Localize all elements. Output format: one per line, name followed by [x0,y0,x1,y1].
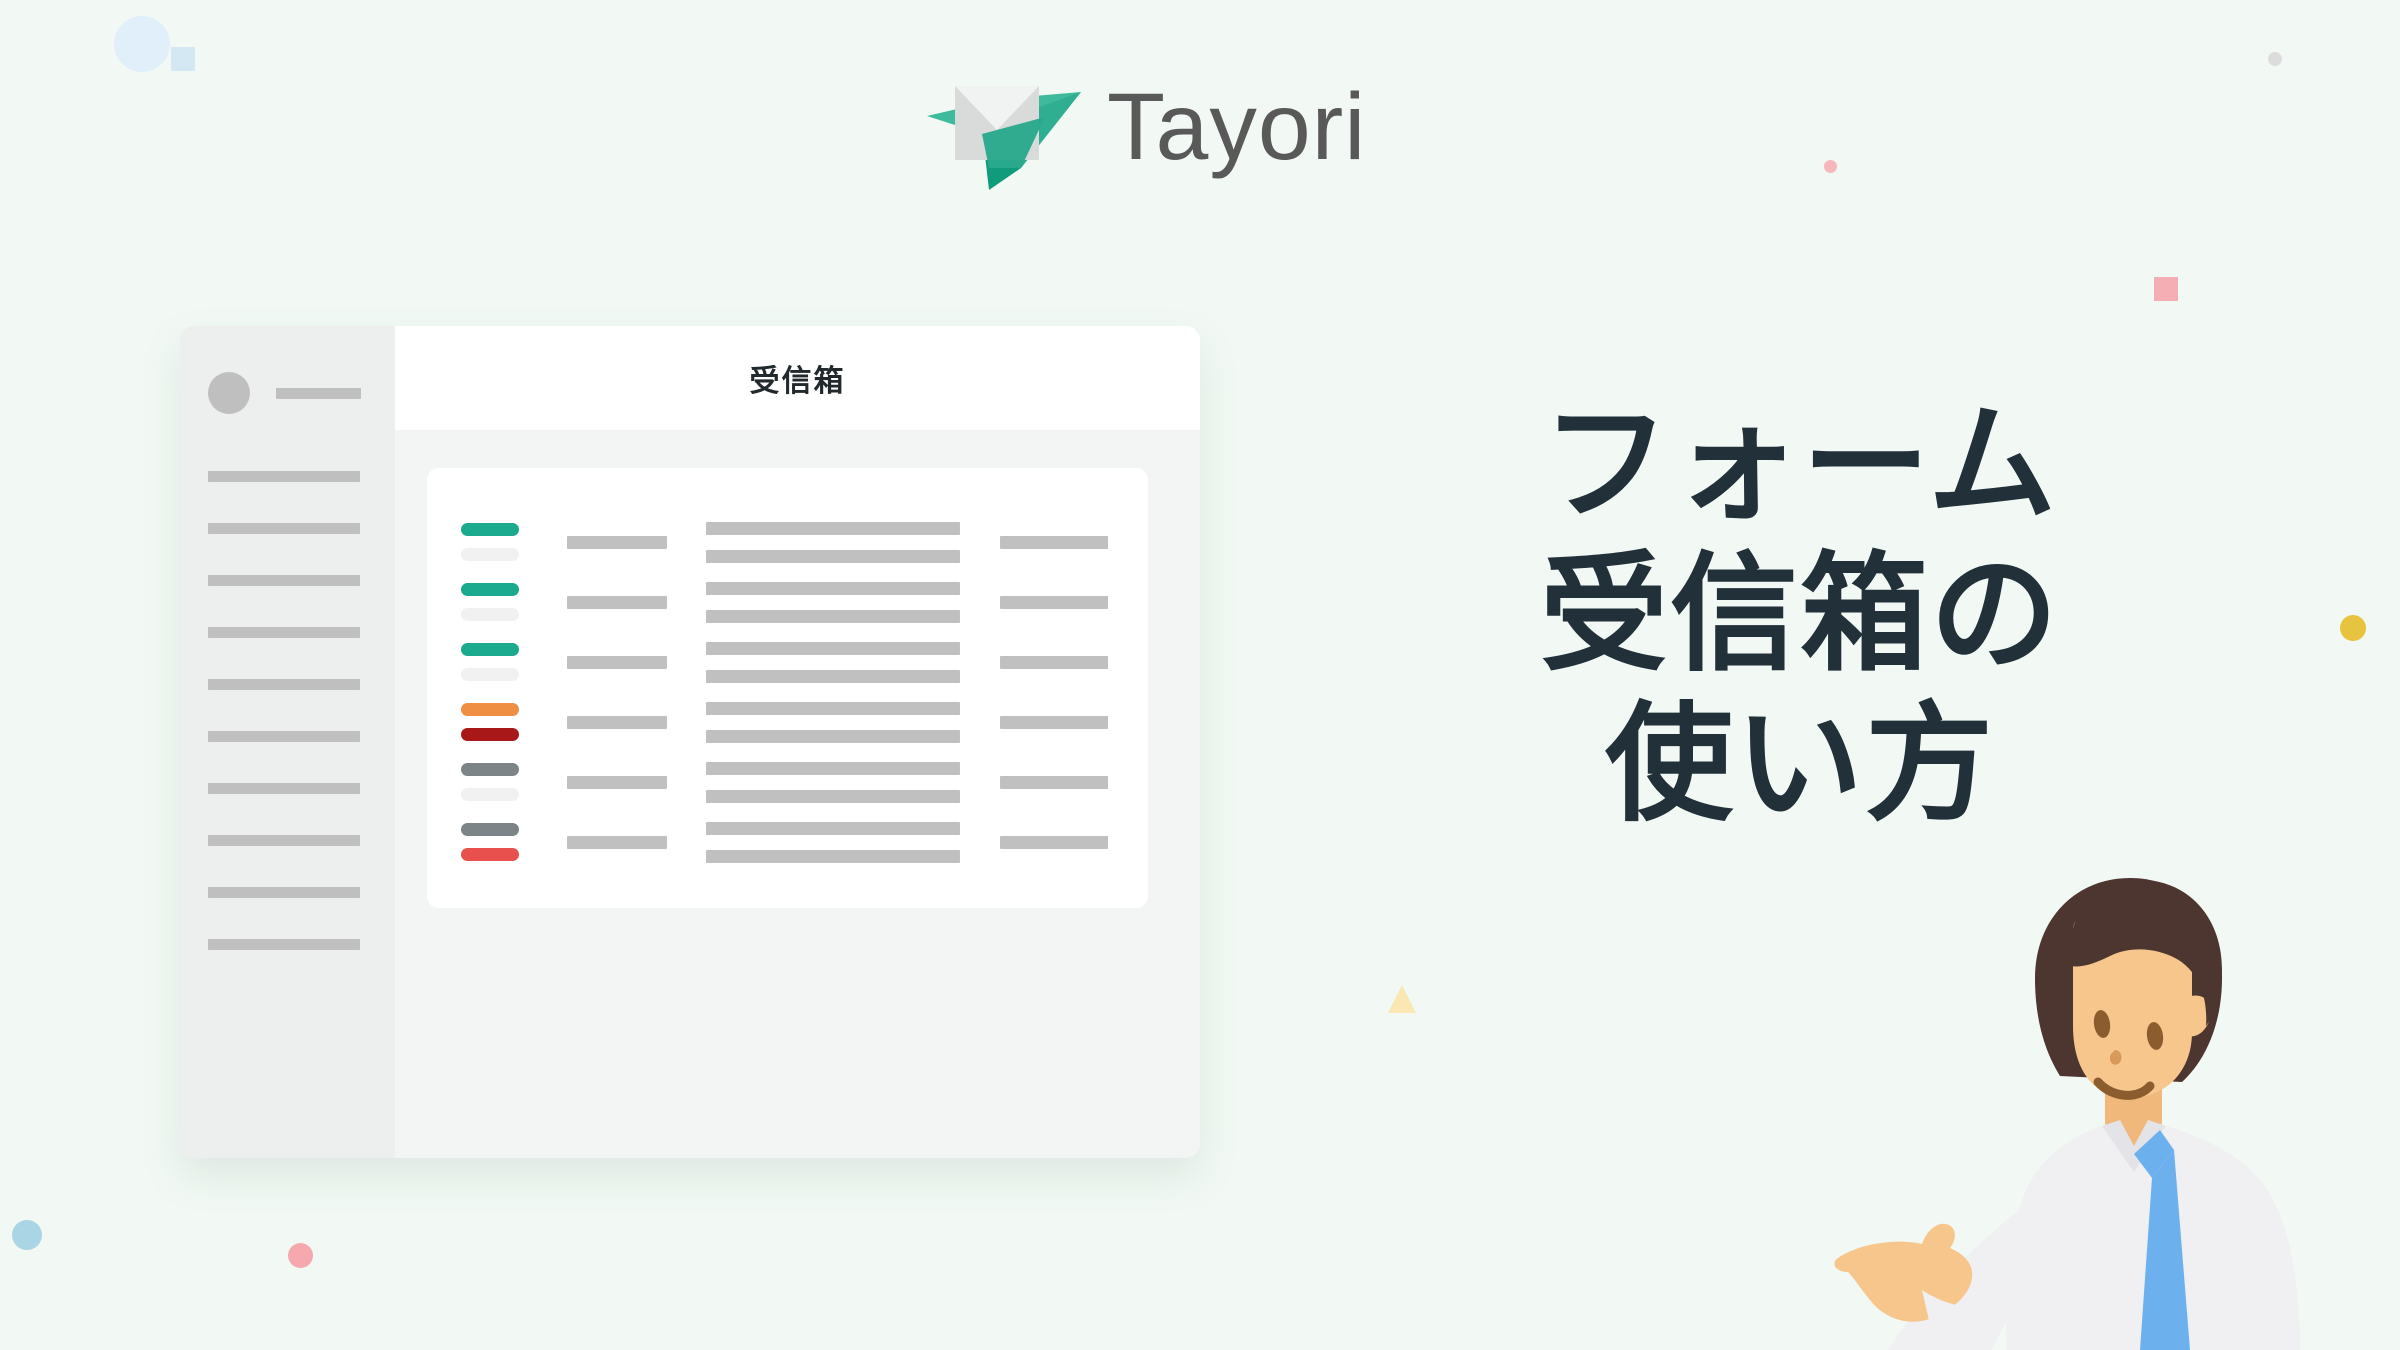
inbox-row[interactable] [427,692,1148,752]
sidebar-nav-item-7[interactable] [208,783,360,794]
sidebar-nav-list [208,471,360,991]
headline: フォーム受信箱の使い方 [1460,390,2140,839]
deco-circle-blue-bottom-left [12,1220,42,1250]
row-date-placeholder [1000,656,1110,669]
app-window-mockup: 受信箱 [180,326,1200,1158]
status-badge[interactable] [461,848,519,861]
envelope-paperplane-icon [925,64,1085,192]
headline-line-1: フォーム [1460,390,2140,540]
row-subject-placeholder [706,822,960,863]
inbox-list-card [427,468,1148,908]
sidebar-user-block[interactable] [208,372,361,414]
sidebar-nav-item-4[interactable] [208,627,360,638]
sidebar-nav-item-9[interactable] [208,887,360,898]
row-subject-placeholder [706,762,960,803]
row-sender-placeholder [567,596,672,609]
headline-line-2: 受信箱の [1460,540,2140,690]
sidebar-nav-item-1[interactable] [208,471,360,482]
status-badge[interactable] [461,823,519,836]
row-tag-group [461,763,553,801]
sidebar-nav-item-5[interactable] [208,679,360,690]
row-sender-placeholder [567,716,672,729]
deco-square-blue-top-left [171,47,195,71]
inbox-row[interactable] [427,512,1148,572]
row-tag-group [461,823,553,861]
user-avatar-icon [208,372,250,414]
row-date-placeholder [1000,776,1110,789]
app-main-area: 受信箱 [395,326,1200,1158]
deco-dot-pink-upper-right [1824,160,1837,173]
inbox-row[interactable] [427,572,1148,632]
deco-circle-blue-top-left [114,16,170,72]
status-badge[interactable] [461,643,519,656]
sidebar-nav-item-3[interactable] [208,575,360,586]
app-header-bar: 受信箱 [395,326,1200,430]
status-badge[interactable] [461,788,519,801]
row-subject-placeholder [706,642,960,683]
row-subject-placeholder [706,702,960,743]
deco-circle-yellow-right [2340,615,2366,641]
row-subject-placeholder [706,582,960,623]
sidebar-nav-item-2[interactable] [208,523,360,534]
deco-circle-pink-bottom [288,1243,313,1268]
row-tag-group [461,523,553,561]
brand-name: Tayori [1107,80,1366,175]
deco-triangle-yellow-mid [1388,985,1416,1013]
businessman-presenting-illustration [1830,820,2400,1350]
inbox-row[interactable] [427,752,1148,812]
status-badge[interactable] [461,728,519,741]
row-tag-group [461,703,553,741]
status-badge[interactable] [461,523,519,536]
row-sender-placeholder [567,656,672,669]
row-sender-placeholder [567,776,672,789]
status-badge[interactable] [461,583,519,596]
status-badge[interactable] [461,668,519,681]
status-badge[interactable] [461,763,519,776]
row-date-placeholder [1000,536,1110,549]
page-title: 受信箱 [750,356,846,400]
inbox-row[interactable] [427,812,1148,872]
app-sidebar [180,326,395,1158]
sidebar-nav-item-6[interactable] [208,731,360,742]
row-tag-group [461,643,553,681]
row-date-placeholder [1000,836,1110,849]
headline-line-3: 使い方 [1460,690,2140,840]
sidebar-nav-item-10[interactable] [208,939,360,950]
sidebar-nav-item-8[interactable] [208,835,360,846]
poster-canvas: Tayori 受信箱 フォーム受信箱の使い方 [0,0,2400,1350]
status-badge[interactable] [461,608,519,621]
inbox-row[interactable] [427,632,1148,692]
row-sender-placeholder [567,536,672,549]
row-date-placeholder [1000,596,1110,609]
row-sender-placeholder [567,836,672,849]
sidebar-username-placeholder [276,388,361,399]
row-subject-placeholder [706,522,960,563]
deco-dot-grey-top-right [2268,52,2282,66]
deco-square-pink-right [2154,277,2178,301]
status-badge[interactable] [461,703,519,716]
app-body [395,430,1200,1158]
brand-logo: Tayori [925,60,1545,195]
row-tag-group [461,583,553,621]
row-date-placeholder [1000,716,1110,729]
status-badge[interactable] [461,548,519,561]
